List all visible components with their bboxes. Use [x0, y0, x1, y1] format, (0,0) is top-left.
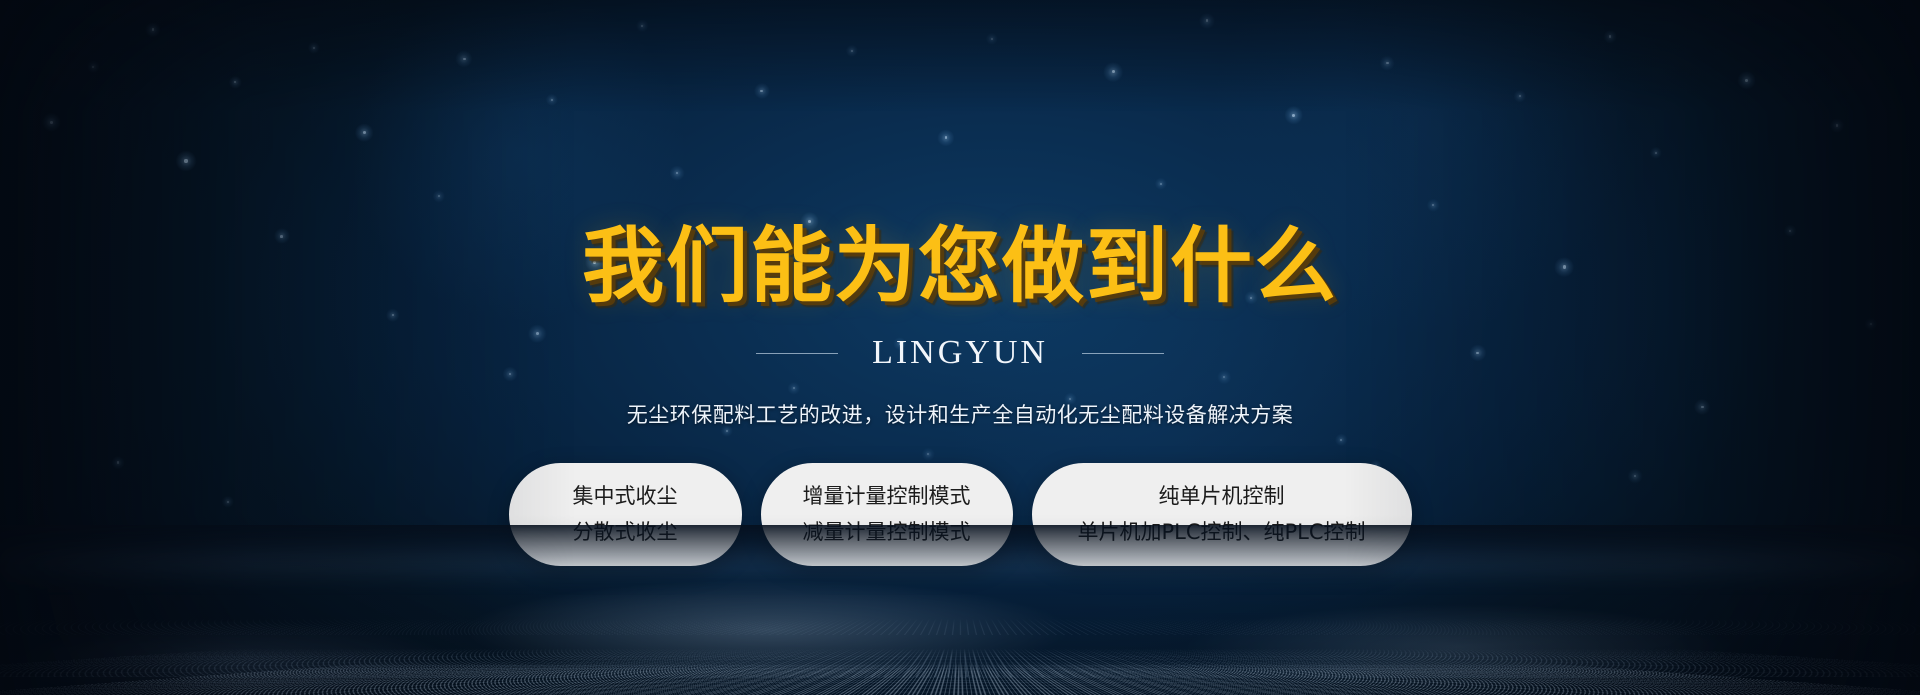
banner-content: 我们能为您做到什么 LINGYUN 无尘环保配料工艺的改进，设计和生产全自动化无… [0, 0, 1920, 566]
feature-card-line: 纯单片机控制 [1159, 485, 1285, 508]
feature-card-list: 集中式收尘 分散式收尘 增量计量控制模式 减量计量控制模式 纯单片机控制 单片机… [0, 463, 1920, 566]
feature-card-control-system[interactable]: 纯单片机控制 单片机加PLC控制、纯PLC控制 [1032, 463, 1412, 566]
divider-left [756, 353, 838, 354]
brand-name: LINGYUN [872, 334, 1048, 372]
feature-card-line: 集中式收尘 [573, 485, 678, 508]
tagline: 无尘环保配料工艺的改进，设计和生产全自动化无尘配料设备解决方案 [0, 399, 1920, 429]
feature-card-line: 减量计量控制模式 [803, 521, 971, 544]
wave-layer-near [0, 663, 1920, 695]
divider-right [1082, 353, 1164, 354]
wave-layer-mid [0, 649, 1920, 677]
page-title: 我们能为您做到什么 [0, 226, 1920, 308]
hero-banner: 我们能为您做到什么 LINGYUN 无尘环保配料工艺的改进，设计和生产全自动化无… [0, 0, 1920, 695]
brand-row: LINGYUN [0, 334, 1920, 372]
feature-card-line: 分散式收尘 [573, 521, 678, 544]
feature-card-metering-mode[interactable]: 增量计量控制模式 减量计量控制模式 [761, 463, 1013, 566]
feature-card-dust-collection[interactable]: 集中式收尘 分散式收尘 [509, 463, 742, 566]
feature-card-line: 单片机加PLC控制、纯PLC控制 [1077, 521, 1365, 544]
feature-card-line: 增量计量控制模式 [803, 485, 971, 508]
wave-layer-far [0, 619, 1920, 635]
